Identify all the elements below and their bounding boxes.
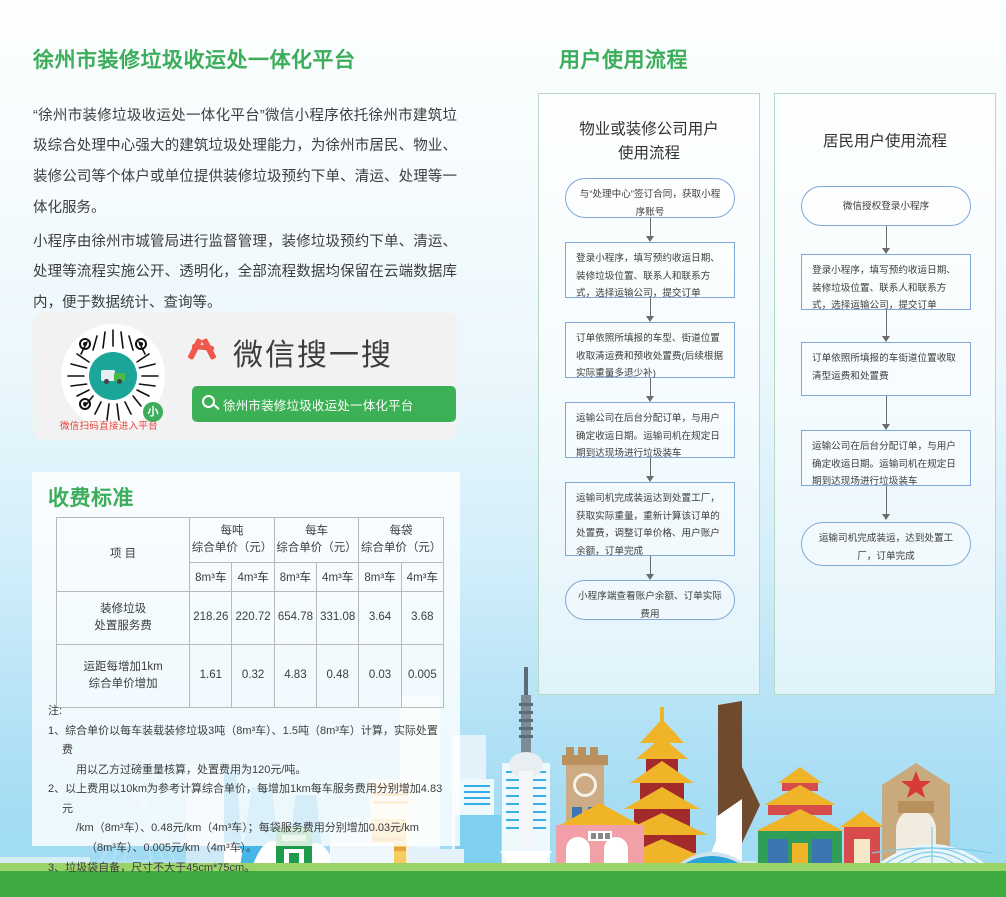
subheader-2: 8m³车	[274, 563, 316, 592]
header-group-per-ton-price: 综合单价（元）	[192, 542, 273, 554]
flow2-node-3[interactable]: 运输公司在后台分配订单，与用户确定收运日期。运输司机在规定日期到达现场进行垃圾装…	[801, 430, 971, 486]
flow1-node-3[interactable]: 运输公司在后台分配订单，与用户确定收运日期。运输司机在规定日期到达现场进行垃圾装…	[565, 402, 735, 458]
flowchart-1-heading-line1: 物业或装修公司用户	[579, 121, 719, 138]
flow2-node-2[interactable]: 订单依照所填报的车街道位置收取清型运费和处置费	[801, 342, 971, 396]
flow1-node-1[interactable]: 登录小程序，填写预约收运日期、装修垃圾位置、联系人和联系方式，选择运输公司，提交…	[565, 242, 735, 298]
header-group-per-vehicle: 每车 综合单价（元）	[274, 518, 359, 563]
subheader-0: 8m³车	[190, 563, 232, 592]
flow2-node-1[interactable]: 登录小程序，填写预约收运日期、装修垃圾位置、联系人和联系方式，选择运输公司，提交…	[801, 254, 971, 310]
row-0-cell-5: 3.68	[401, 592, 443, 645]
row-1-cell-3: 0.48	[317, 645, 359, 708]
flow-section-title: 用户使用流程	[559, 44, 688, 74]
qr-caption: 微信扫码直接进入平台	[39, 418, 179, 432]
flow2-arrow-3	[882, 514, 890, 520]
flowchart-2-heading: 居民用户使用流程	[775, 130, 995, 154]
truck-icon	[101, 368, 125, 382]
header-group-per-vehicle-price: 综合单价（元）	[276, 542, 357, 554]
table-row: 运距每增加1km 综合单价增加 1.61 0.32 4.83 0.48 0.03…	[57, 645, 444, 708]
wechat-search-button-label: 徐州市装修垃圾收运处一体化平台	[223, 395, 414, 414]
note-line-1: 1、综合单价以每车装载装修垃圾3吨（8m³车）、1.5吨（8m³车）计算，实际处…	[48, 722, 448, 761]
fee-notes: 注: 1、综合单价以每车装载装修垃圾3吨（8m³车）、1.5吨（8m³车）计算，…	[48, 702, 448, 878]
intro-paragraph-2: 小程序由徐州市城管局进行监督管理，装修垃圾预约下单、清运、处理等流程实施公开、透…	[33, 227, 457, 319]
subheader-4: 8m³车	[359, 563, 401, 592]
row-1-cell-0: 1.61	[190, 645, 232, 708]
right-column: 用户使用流程 物业或装修公司用户 使用流程 与“处理中心”签订合同，获取小程序账…	[500, 0, 1006, 897]
note-line-3: 2、以上费用以10km为参考计算综合单价，每增加1km每车服务费用分别增加4.8…	[48, 780, 448, 819]
header-group-per-vehicle-unit: 每车	[305, 525, 328, 537]
row-0-cell-0: 218.26	[190, 592, 232, 645]
row-0-label: 装修垃圾 处置服务费	[57, 592, 190, 645]
flowchart-1-heading-line2: 使用流程	[618, 145, 680, 162]
row-1-cell-2: 4.83	[274, 645, 316, 708]
left-column: 徐州市装修垃圾收运处一体化平台 “徐州市装修垃圾收运处一体化平台”微信小程序依托…	[0, 0, 500, 897]
flow1-node-2[interactable]: 订单依照所填报的车型、街道位置收取清运费和预收处置费(后续根据实际重量多退少补)	[565, 322, 735, 378]
flow2-node-0[interactable]: 微信授权登录小程序	[801, 186, 971, 226]
table-row: 装修垃圾 处置服务费 218.26 220.72 654.78 331.08 3…	[57, 592, 444, 645]
note-line-4: /km（8m³车）、0.48元/km（4m³车）；每袋服务费用分别增加0.03元…	[48, 819, 448, 839]
table-header-row-1: 项 目 每吨 综合单价（元） 每车 综合单价（元） 每袋 综合单价（元）	[57, 518, 444, 563]
intro-paragraph-1: “徐州市装修垃圾收运处一体化平台”微信小程序依托徐州市建筑垃圾综合处理中心强大的…	[33, 101, 457, 224]
search-icon	[202, 395, 220, 413]
flowchart-business-users: 物业或装修公司用户 使用流程 与“处理中心”签订合同，获取小程序账号 登录小程序…	[538, 93, 760, 695]
row-0-label-line1: 装修垃圾	[100, 603, 146, 615]
row-0-cell-3: 331.08	[317, 592, 359, 645]
header-group-per-bag-price: 综合单价（元）	[361, 542, 442, 554]
wechat-entry-card: 小 微信扫码直接进入平台 微信搜一搜 徐州市装修垃圾收运处一体化平台	[33, 312, 457, 440]
row-1-label-line2: 综合单价增加	[89, 678, 158, 690]
wechat-search-brand-label: 微信搜一搜	[233, 330, 393, 374]
row-1-label-line1: 运距每增加1km	[83, 661, 162, 673]
row-0-label-line2: 处置服务费	[94, 620, 152, 632]
note-line-2: 用以乙方过磅重量核算，处置费用为120元/吨。	[48, 761, 448, 781]
row-1-cell-4: 0.03	[359, 645, 401, 708]
fee-table: 项 目 每吨 综合单价（元） 每车 综合单价（元） 每袋 综合单价（元）	[56, 517, 444, 708]
subheader-5: 4m³车	[401, 563, 443, 592]
header-group-per-ton: 每吨 综合单价（元）	[190, 518, 275, 563]
note-line-5: （8m³车）、0.005元/km（4m³车）。	[48, 839, 448, 859]
row-0-cell-4: 3.64	[359, 592, 401, 645]
flowchart-1-heading: 物业或装修公司用户 使用流程	[539, 118, 759, 166]
row-1-label: 运距每增加1km 综合单价增加	[57, 645, 190, 708]
fee-section-title: 收费标准	[48, 482, 134, 512]
flow1-node-5[interactable]: 小程序端查看账户余额、订单实际费用	[565, 580, 735, 620]
note-line-6: 3、垃圾袋自备，尺寸不大于45cm*75cm。	[48, 859, 448, 879]
row-0-cell-2: 654.78	[274, 592, 316, 645]
flowchart-resident-users: 居民用户使用流程 微信授权登录小程序 登录小程序，填写预约收运日期、装修垃圾位置…	[774, 93, 996, 695]
header-group-per-bag-unit: 每袋	[390, 525, 413, 537]
row-0-cell-1: 220.72	[232, 592, 274, 645]
row-1-cell-1: 0.32	[232, 645, 274, 708]
flow1-node-4[interactable]: 运输司机完成装运达到处置工厂，获取实际重量，重新计算该订单的处置费，调整订单价格…	[565, 482, 735, 556]
flowchart-2-heading-line1: 居民用户使用流程	[823, 133, 947, 150]
subheader-3: 4m³车	[317, 563, 359, 592]
flow2-node-4[interactable]: 运输司机完成装运，达到处置工厂，订单完成	[801, 522, 971, 566]
page-title: 徐州市装修垃圾收运处一体化平台	[33, 44, 356, 74]
header-group-per-bag: 每袋 综合单价（元）	[359, 518, 444, 563]
flow1-node-0[interactable]: 与“处理中心”签订合同，获取小程序账号	[565, 178, 735, 218]
notes-title: 注:	[48, 702, 448, 722]
header-item-column: 项 目	[57, 518, 190, 592]
wechat-search-button[interactable]: 徐州市装修垃圾收运处一体化平台	[192, 386, 456, 422]
row-1-cell-5: 0.005	[401, 645, 443, 708]
subheader-1: 4m³车	[232, 563, 274, 592]
wechat-sousou-logo-icon	[191, 334, 225, 364]
header-group-per-ton-unit: 每吨	[220, 525, 243, 537]
qr-code-block[interactable]: 小	[61, 324, 165, 428]
poster-page: 徐州市装修垃圾收运处一体化平台 “徐州市装修垃圾收运处一体化平台”微信小程序依托…	[0, 0, 1006, 897]
